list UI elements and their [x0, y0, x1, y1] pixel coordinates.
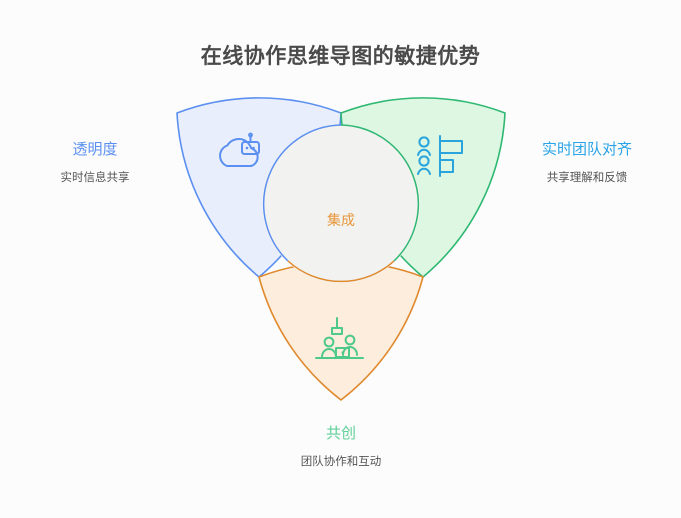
label-co-creation-subtitle: 团队协作和互动 — [246, 453, 436, 471]
label-team-alignment-subtitle: 共享理解和反馈 — [492, 169, 681, 187]
label-team-alignment[interactable]: 实时团队对齐 共享理解和反馈 — [492, 140, 681, 187]
label-co-creation-title: 共创 — [246, 424, 436, 444]
label-transparency-title: 透明度 — [0, 140, 190, 160]
diagram-canvas: 在线协作思维导图的敏捷优势 集成 — [0, 0, 681, 518]
center-circle-group[interactable]: 集成 — [262, 125, 420, 283]
center-label: 集成 — [327, 212, 355, 228]
label-co-creation[interactable]: 共创 团队协作和互动 — [246, 424, 436, 471]
label-transparency-subtitle: 实时信息共享 — [0, 169, 190, 187]
label-transparency[interactable]: 透明度 实时信息共享 — [0, 140, 190, 187]
label-team-alignment-title: 实时团队对齐 — [492, 140, 681, 160]
